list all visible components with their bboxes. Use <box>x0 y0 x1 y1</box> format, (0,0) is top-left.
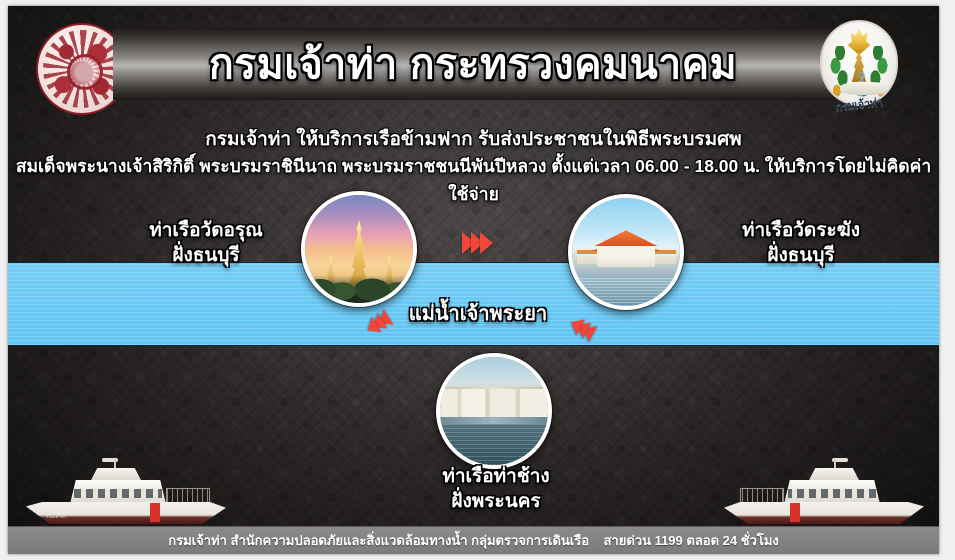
boat-stern-rail <box>166 488 210 502</box>
boat-hull-text: กรมเจ้าท่า <box>46 513 66 520</box>
boat-cabin <box>90 468 142 482</box>
tha-chang-scene <box>440 357 548 465</box>
river-water <box>572 278 680 306</box>
temple-side-right <box>654 250 676 264</box>
pier-dock <box>440 417 548 423</box>
tha-chang-photo <box>436 353 552 469</box>
pier-label-tha-chang: ท่าเรือท่าช้าง ฝั่งพระนคร <box>396 464 596 514</box>
temple-upper-roof <box>594 230 658 246</box>
marine-department-emblem-icon: ⚓ กรมเจ้าท่า <box>816 20 902 120</box>
patrol-boat-right <box>724 458 924 524</box>
pier-name-line-2: ฝั่งธนบุรี <box>106 243 306 268</box>
river-water <box>440 424 548 465</box>
announcement-line-1: กรมเจ้าท่า ให้บริการเรือข้ามฟาก รับส่งปร… <box>8 124 939 154</box>
chevron-right-icon <box>480 232 493 254</box>
boat-stern-rail <box>740 488 784 502</box>
pier-label-wat-arun: ท่าเรือวัดอรุณ ฝั่งธนบุรี <box>106 218 306 268</box>
boat-cabin <box>808 468 860 482</box>
foreground-trees <box>305 275 413 303</box>
pier-name-line-2: ฝั่งธนบุรี <box>696 243 906 268</box>
pier-name-line-1: ท่าเรือวัดอรุณ <box>106 218 306 243</box>
boat-hull-stripe <box>790 503 800 522</box>
poster-footer: กรมเจ้าท่า สำนักความปลอดภัยและสิ่งแวดล้อ… <box>8 526 939 554</box>
patrol-boat-left: กรมเจ้าท่า <box>26 458 226 524</box>
wat-rakhang-photo <box>568 194 684 310</box>
ferry-service-poster: กรมเจ้าท่า กระทรวงคมนาคม ⚓ กรมเจ้าท่า กร… <box>8 6 939 554</box>
boat-windows <box>788 489 876 498</box>
announcement-line-2: สมเด็จพระนางเจ้าสิริกิติ์ พระบรมราชินีนา… <box>8 152 939 208</box>
wat-rakhang-scene <box>572 198 680 306</box>
boat-windows <box>74 489 162 498</box>
arrow-group-middle-right-icon <box>466 232 493 254</box>
page-title: กรมเจ้าท่า กระทรวงคมนาคม <box>113 28 833 100</box>
footer-text: กรมเจ้าท่า สำนักความปลอดภัยและสิ่งแวดล้อ… <box>168 530 779 551</box>
wat-arun-scene <box>305 195 413 303</box>
pier-name-line-2: ฝั่งพระนคร <box>396 489 596 514</box>
pier-name-line-1: ท่าเรือวัดระฆัง <box>696 218 906 243</box>
pier-name-line-1: ท่าเรือท่าช้าง <box>396 464 596 489</box>
wat-arun-photo <box>301 191 417 307</box>
boat-hull-stripe <box>150 503 160 522</box>
boat-hull <box>724 502 924 524</box>
poster-header: กรมเจ้าท่า กระทรวงคมนาคม ⚓ กรมเจ้าท่า <box>8 6 939 122</box>
pier-label-wat-rakhang: ท่าเรือวัดระฆัง ฝั่งธนบุรี <box>696 218 906 268</box>
